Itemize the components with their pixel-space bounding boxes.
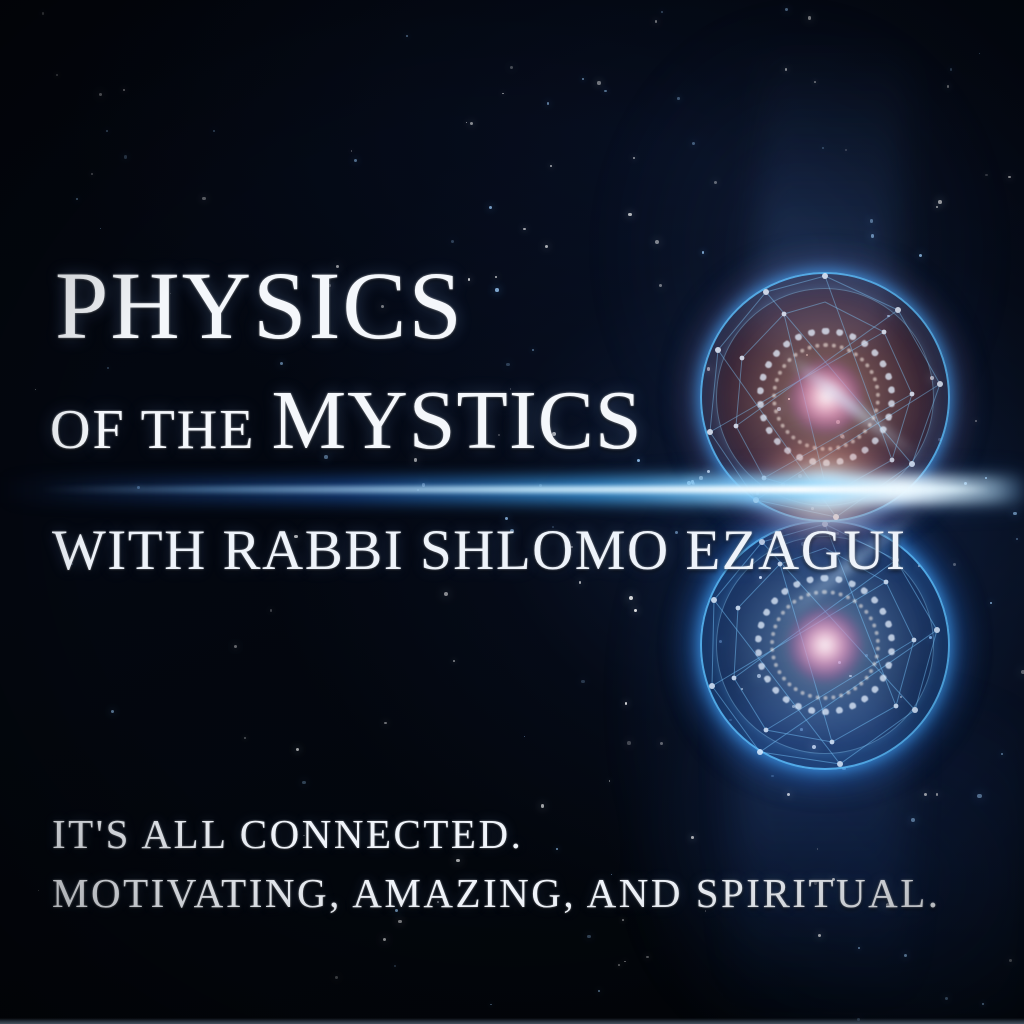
tagline-block: IT'S ALL CONNECTED. MOTIVATING, AMAZING,… — [52, 805, 941, 924]
tagline-line-2: MOTIVATING, AMAZING, AND SPIRITUAL. — [52, 864, 941, 923]
tagline-line-1: IT'S ALL CONNECTED. — [52, 805, 941, 864]
podcast-cover-art: PHYSICS OF THE MYSTICS WITH RABBI SHLOMO… — [0, 0, 1024, 1024]
page-title-line-1: PHYSICS — [55, 258, 464, 354]
title-of-the: OF THE — [50, 399, 271, 461]
text-layer: PHYSICS OF THE MYSTICS WITH RABBI SHLOMO… — [0, 0, 1024, 1024]
host-byline: WITH RABBI SHLOMO EZAGUI — [52, 518, 907, 583]
title-mystics: MYSTICS — [271, 374, 642, 467]
page-title-line-2: OF THE MYSTICS — [50, 372, 643, 469]
bottom-edge-strip — [0, 1018, 1024, 1024]
